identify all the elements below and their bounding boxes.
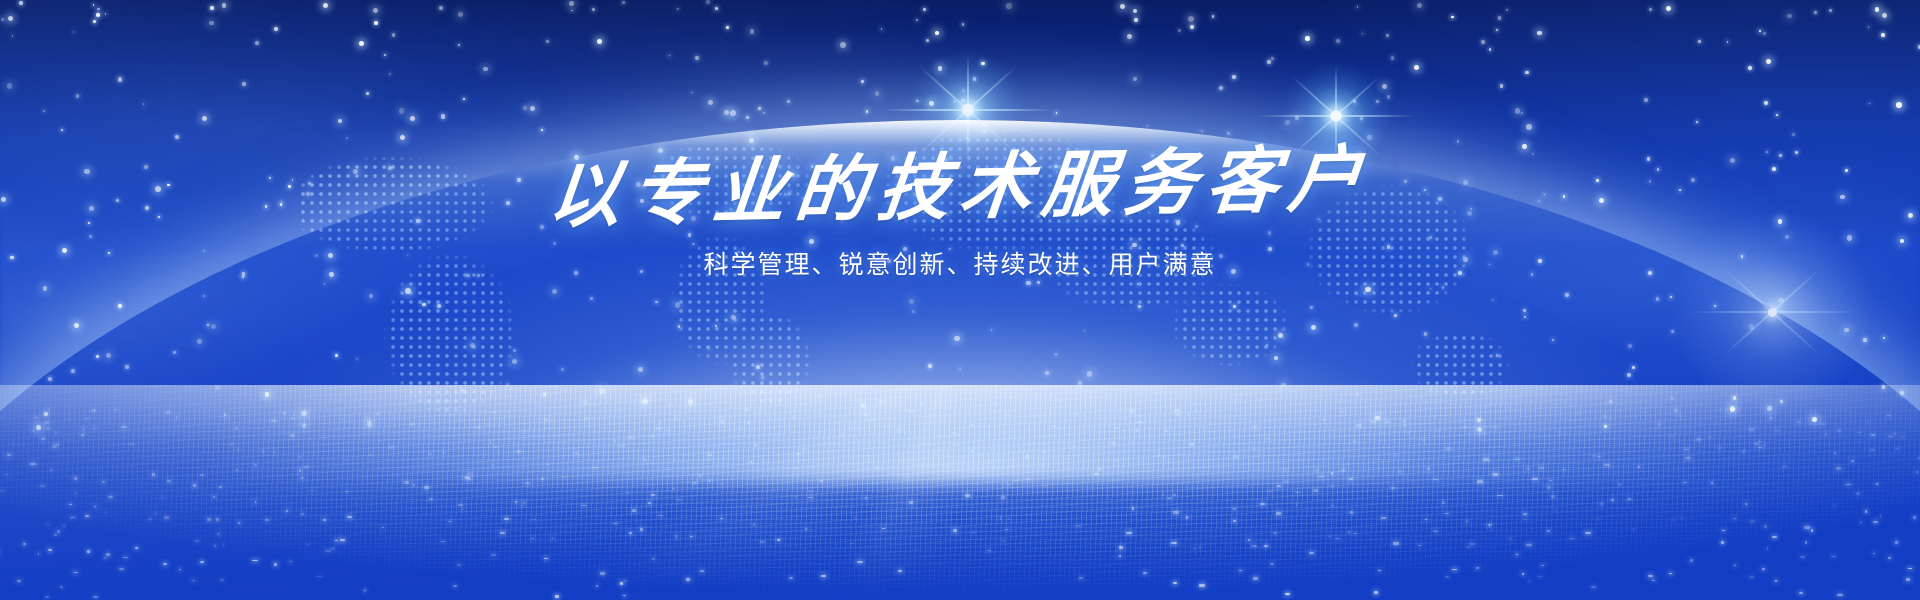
- city-light: [1782, 466, 1787, 468]
- city-light: [323, 519, 326, 521]
- star-dot: [881, 28, 883, 30]
- star-dot: [209, 21, 214, 26]
- city-light: [935, 452, 938, 455]
- city-light: [1168, 498, 1171, 499]
- star-dot: [1727, 41, 1729, 43]
- star-dot: [1481, 40, 1485, 44]
- city-light: [667, 429, 670, 432]
- city-light: [629, 532, 632, 534]
- city-light: [1610, 418, 1611, 421]
- city-light: [1356, 424, 1362, 427]
- city-light: [1722, 530, 1725, 531]
- city-light: [335, 540, 338, 541]
- city-light: [515, 501, 517, 503]
- star-dot: [1188, 16, 1194, 22]
- city-light: [1187, 414, 1191, 415]
- city-light: [1469, 543, 1475, 545]
- city-light: [632, 509, 636, 511]
- city-light: [1797, 421, 1801, 423]
- city-light: [1377, 459, 1379, 460]
- city-light: [629, 436, 633, 439]
- city-light: [123, 557, 127, 558]
- star-dot: [1190, 25, 1194, 29]
- city-light: [63, 525, 65, 528]
- city-light: [1750, 520, 1755, 522]
- city-light: [1131, 441, 1133, 442]
- city-light: [1684, 482, 1686, 484]
- star-dot: [483, 67, 488, 72]
- city-light: [1604, 464, 1610, 466]
- city-light: [389, 446, 394, 449]
- city-light: [905, 476, 909, 477]
- city-light: [1111, 442, 1116, 444]
- city-light: [777, 539, 780, 541]
- star-dot: [74, 323, 79, 328]
- city-light: [262, 451, 265, 452]
- city-light: [1260, 503, 1265, 505]
- city-light: [699, 475, 701, 477]
- city-light: [1251, 545, 1257, 547]
- city-light: [1831, 556, 1836, 558]
- city-light: [214, 545, 216, 547]
- city-light: [1171, 542, 1177, 544]
- star-dot: [1814, 11, 1817, 14]
- city-light: [868, 418, 869, 420]
- city-light: [1452, 569, 1457, 570]
- city-light: [103, 557, 107, 558]
- city-light: [254, 464, 257, 465]
- city-light: [1434, 415, 1435, 417]
- city-light: [1233, 520, 1236, 522]
- star-dot: [926, 39, 930, 43]
- city-light: [443, 452, 444, 454]
- city-light: [1497, 495, 1503, 496]
- star-dot: [1869, 103, 1871, 105]
- city-light: [429, 498, 433, 501]
- star-dot: [622, 1, 625, 4]
- city-light: [868, 443, 870, 445]
- city-light: [1271, 563, 1273, 565]
- star-dot: [929, 101, 935, 107]
- city-light: [1895, 448, 1899, 449]
- city-light: [1331, 472, 1333, 474]
- city-light: [1119, 546, 1123, 549]
- city-light: [1114, 427, 1118, 429]
- city-light: [1174, 409, 1180, 412]
- city-light: [531, 538, 534, 539]
- city-light: [167, 480, 171, 482]
- city-light: [544, 558, 548, 559]
- city-light: [81, 434, 85, 436]
- city-light: [1516, 554, 1518, 555]
- city-light: [1670, 436, 1674, 437]
- city-light: [1350, 511, 1354, 514]
- city-light: [1393, 542, 1399, 544]
- city-light: [720, 518, 723, 519]
- city-light: [179, 569, 181, 570]
- city-light: [304, 466, 309, 469]
- city-light: [93, 596, 97, 598]
- city-light: [1330, 485, 1334, 487]
- city-light: [85, 515, 89, 517]
- city-light: [155, 513, 156, 514]
- city-light: [119, 568, 124, 571]
- star-dot: [93, 4, 95, 6]
- star-dot: [1764, 101, 1768, 105]
- city-light: [370, 454, 372, 455]
- city-light: [385, 429, 387, 430]
- city-light: [1804, 526, 1809, 529]
- city-light: [220, 579, 224, 582]
- star-dot: [1763, 32, 1766, 35]
- city-light: [1422, 439, 1426, 441]
- city-light: [376, 413, 380, 415]
- star-dot: [764, 61, 768, 65]
- city-light: [1876, 483, 1878, 485]
- star-dot: [1232, 75, 1236, 79]
- city-light: [1002, 485, 1004, 487]
- city-light: [218, 533, 219, 534]
- city-light: [1316, 469, 1318, 471]
- city-light: [1313, 489, 1319, 492]
- city-light: [6, 474, 8, 475]
- city-light: [1749, 576, 1754, 578]
- city-light: [882, 528, 885, 529]
- hero-banner: 以专业的技术服务客户 科学管理、锐意创新、持续改进、用户满意: [0, 0, 1920, 600]
- city-light: [1870, 449, 1875, 451]
- city-light: [164, 516, 170, 518]
- star-dot: [1875, 7, 1880, 12]
- city-light: [1755, 443, 1758, 444]
- city-light: [1477, 480, 1483, 483]
- star-dot: [1778, 298, 1784, 304]
- star-dot: [1696, 121, 1698, 123]
- star-dot: [384, 54, 386, 56]
- city-light: [340, 539, 345, 540]
- city-light: [1825, 433, 1826, 436]
- city-light: [265, 519, 269, 521]
- city-light: [675, 415, 680, 416]
- city-light: [1163, 457, 1166, 458]
- city-light: [46, 427, 50, 430]
- star-dot: [708, 100, 713, 105]
- city-light: [1510, 538, 1511, 540]
- city-light: [1558, 431, 1560, 433]
- star-dot: [1133, 9, 1137, 13]
- star-dot: [1537, 31, 1542, 36]
- city-light: [73, 572, 78, 573]
- city-light: [491, 554, 496, 556]
- city-light: [1149, 438, 1151, 440]
- city-light: [462, 508, 463, 510]
- city-light: [753, 523, 755, 526]
- city-light: [1157, 455, 1160, 456]
- star-dot: [981, 62, 984, 65]
- city-light: [46, 524, 51, 525]
- city-light: [1592, 455, 1595, 458]
- city-light: [1515, 458, 1520, 460]
- city-light: [1348, 531, 1350, 533]
- city-light: [1916, 471, 1918, 473]
- star-dot: [73, 31, 75, 33]
- city-light: [971, 424, 975, 425]
- city-light: [1295, 492, 1301, 493]
- city-light: [1004, 414, 1009, 416]
- city-light: [1865, 510, 1867, 513]
- city-light: [1734, 565, 1737, 566]
- star-dot: [1500, 84, 1504, 88]
- city-light: [410, 423, 416, 425]
- city-light: [808, 490, 812, 492]
- city-light: [1685, 457, 1691, 458]
- city-light: [1799, 592, 1803, 594]
- city-light: [102, 481, 105, 484]
- city-light: [1442, 501, 1445, 504]
- city-light: [805, 528, 807, 530]
- city-light: [476, 427, 482, 429]
- star-dot: [19, 1, 23, 5]
- star-dot: [1219, 86, 1223, 90]
- city-light: [301, 513, 304, 516]
- city-light: [235, 427, 238, 429]
- city-light: [1284, 480, 1288, 483]
- star-dot: [1133, 77, 1138, 82]
- city-light: [1492, 427, 1497, 428]
- star-dot: [569, 1, 574, 6]
- city-light: [1378, 570, 1381, 571]
- city-light: [55, 431, 57, 434]
- star-dot: [715, 7, 719, 11]
- star-dot: [677, 8, 679, 10]
- city-light: [1526, 544, 1532, 547]
- star-dot: [1759, 30, 1761, 32]
- city-light: [656, 427, 662, 430]
- city-light: [1906, 578, 1910, 581]
- city-light: [1044, 485, 1046, 487]
- city-light: [195, 540, 199, 542]
- city-light: [1467, 546, 1469, 548]
- city-light: [517, 450, 522, 452]
- star-dot: [463, 98, 465, 100]
- city-light: [953, 529, 957, 532]
- city-light: [875, 467, 881, 468]
- star-dot: [1134, 18, 1138, 22]
- city-light: [1805, 541, 1807, 544]
- city-light: [465, 477, 470, 479]
- city-light: [1527, 468, 1529, 470]
- city-light: [87, 550, 90, 553]
- city-light: [238, 448, 239, 450]
- city-light: [1908, 568, 1912, 569]
- city-light: [1522, 573, 1524, 575]
- city-light: [690, 536, 692, 537]
- city-light: [1856, 492, 1860, 495]
- star-dot: [1649, 8, 1652, 11]
- star-dot: [1120, 4, 1125, 9]
- star-dot: [202, 116, 207, 121]
- star-dot: [12, 35, 14, 37]
- city-light: [274, 563, 276, 566]
- city-light: [581, 505, 586, 506]
- star-dot: [1178, 29, 1181, 32]
- city-light: [1895, 541, 1899, 544]
- city-light: [468, 479, 472, 480]
- star-dot: [1386, 34, 1389, 37]
- city-light: [1846, 484, 1851, 485]
- city-light: [311, 490, 314, 491]
- city-light: [532, 519, 536, 520]
- city-light: [1076, 525, 1081, 527]
- star-dot: [935, 31, 940, 36]
- city-light: [1042, 452, 1046, 453]
- city-light: [1328, 536, 1332, 537]
- city-light: [1264, 545, 1269, 547]
- city-light: [238, 522, 241, 524]
- city-light: [23, 543, 26, 545]
- city-light: [1001, 496, 1005, 499]
- city-light: [166, 411, 170, 413]
- city-light: [1199, 584, 1205, 587]
- city-light: [1309, 552, 1315, 554]
- city-light: [219, 486, 222, 488]
- star-dot: [1271, 57, 1274, 60]
- city-light: [821, 575, 827, 577]
- city-light: [1719, 409, 1721, 410]
- star-dot: [1766, 59, 1771, 64]
- star-dot: [1829, 9, 1832, 12]
- city-light: [1173, 582, 1177, 584]
- city-light: [1331, 505, 1335, 507]
- city-light: [1618, 483, 1621, 486]
- city-light: [490, 442, 491, 444]
- city-light: [1834, 452, 1836, 453]
- city-light: [1233, 508, 1236, 510]
- city-light: [273, 452, 276, 453]
- city-light: [70, 517, 75, 518]
- star-dot: [1498, 16, 1502, 20]
- city-light: [686, 578, 691, 580]
- star-dot: [1267, 60, 1271, 64]
- city-light: [1380, 432, 1384, 434]
- city-light: [1684, 449, 1689, 450]
- city-light: [1648, 575, 1653, 577]
- city-light: [69, 504, 72, 505]
- city-light: [45, 421, 48, 423]
- city-light: [1523, 513, 1528, 516]
- star-dot: [392, 33, 396, 37]
- city-light: [1591, 586, 1597, 587]
- star-dot: [1489, 48, 1491, 50]
- city-light: [871, 418, 874, 420]
- city-light: [1894, 433, 1897, 435]
- city-light: [223, 544, 225, 546]
- city-light: [200, 561, 205, 563]
- city-light: [1857, 432, 1862, 433]
- city-light: [1873, 521, 1878, 523]
- city-light: [1143, 572, 1147, 574]
- star-dot: [916, 100, 919, 103]
- star-dot: [1414, 65, 1419, 70]
- city-light: [200, 474, 204, 476]
- city-light: [1132, 507, 1134, 510]
- city-light: [1886, 415, 1891, 417]
- city-light: [1427, 468, 1430, 470]
- city-light: [252, 560, 258, 561]
- city-light: [441, 541, 446, 542]
- city-light: [1539, 467, 1544, 468]
- star-dot: [571, 10, 573, 12]
- city-light: [650, 435, 655, 437]
- star-dot: [1748, 66, 1752, 70]
- city-light: [363, 590, 366, 592]
- city-light: [1711, 482, 1713, 484]
- city-light: [800, 439, 801, 441]
- city-light: [1673, 519, 1675, 522]
- city-light: [85, 418, 89, 419]
- star-dot: [389, 73, 391, 75]
- city-light: [1834, 505, 1836, 506]
- city-light: [1762, 568, 1765, 570]
- star-dot: [210, 6, 214, 10]
- city-light: [1767, 547, 1768, 550]
- city-light: [909, 501, 913, 504]
- star-dot: [1382, 84, 1387, 89]
- city-light: [1137, 421, 1143, 423]
- city-light: [1633, 528, 1634, 531]
- city-light: [951, 432, 956, 435]
- city-light: [672, 488, 675, 489]
- star-dot: [439, 6, 443, 10]
- star-dot: [1357, 6, 1359, 8]
- star-dot: [1391, 56, 1395, 60]
- city-light: [92, 428, 98, 430]
- city-light: [1554, 509, 1556, 510]
- city-light: [1374, 591, 1378, 594]
- star-dot: [1844, 328, 1849, 333]
- city-light: [1282, 470, 1288, 471]
- city-light: [673, 459, 675, 461]
- city-light: [298, 456, 302, 458]
- city-light: [290, 434, 295, 437]
- city-light: [866, 419, 869, 420]
- city-light: [1749, 428, 1755, 430]
- star-dot: [750, 29, 755, 34]
- city-light: [1774, 430, 1779, 432]
- city-light: [1549, 480, 1552, 482]
- city-light: [1547, 486, 1551, 489]
- star-dot: [1305, 36, 1310, 41]
- city-light: [216, 518, 220, 521]
- city-light: [1563, 469, 1564, 470]
- city-light: [1318, 476, 1324, 478]
- city-light: [1709, 436, 1711, 438]
- city-light: [1836, 467, 1842, 470]
- city-light: [1909, 427, 1910, 429]
- city-light: [1465, 520, 1469, 523]
- city-light: [808, 497, 813, 499]
- city-light: [1603, 415, 1607, 417]
- star-dot: [43, 110, 45, 112]
- star-dot: [1376, 100, 1379, 103]
- city-light: [1681, 517, 1682, 520]
- city-light: [659, 422, 661, 425]
- city-light: [1071, 446, 1076, 448]
- city-light: [307, 544, 308, 546]
- city-light: [1322, 418, 1326, 421]
- city-light: [108, 496, 113, 497]
- city-light: [1433, 479, 1438, 481]
- city-light: [345, 460, 346, 462]
